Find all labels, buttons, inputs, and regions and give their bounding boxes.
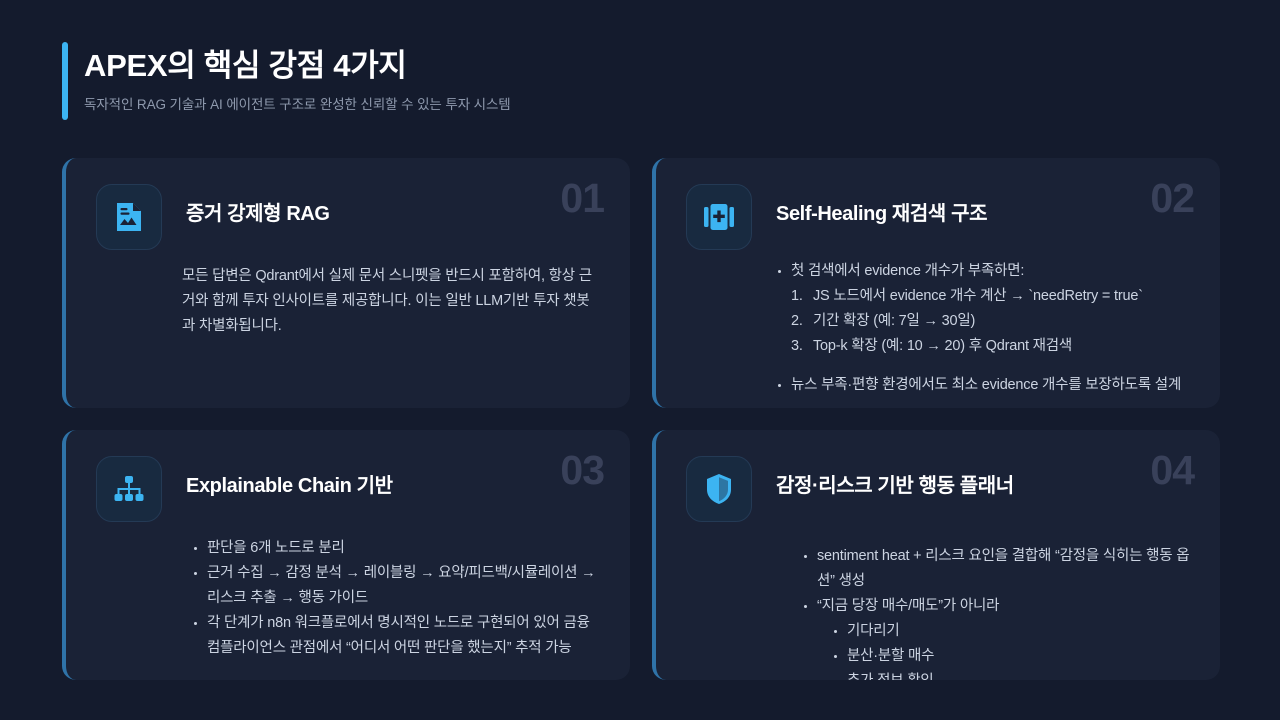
list-item: 근거 수집 → 감정 분석 → 레이블링 → 요약/피드백/시뮬레이션 → 리스… [192,561,602,611]
feature-card-grid: 01 증거 강제형 RAG 모든 답변은 Q [62,158,1220,680]
list-item: 각 단계가 n8n 워크플로에서 명시적인 노드로 구현되어 있어 금융 컴플라… [192,611,602,661]
sitemap-hierarchy-icon [113,475,145,503]
list-item: Top-k 확장 (예: 10 → 20) 후 Qdrant 재검색 [791,334,1192,359]
list-item: 분산·분할 매수 [832,644,1192,669]
header-text-group: APEX의 핵심 강점 4가지 독자적인 RAG 기술과 AI 에이전트 구조로… [68,42,511,120]
card-body: 모든 답변은 Qdrant에서 실제 문서 스니펫을 반드시 포함하여, 항상 … [96,264,602,339]
slide-header: APEX의 핵심 강점 4가지 독자적인 RAG 기술과 AI 에이전트 구조로… [62,42,511,120]
list-item: 추가 정보 확인 [832,669,1192,680]
list-spacer [776,359,1192,373]
card-number-badge: 03 [560,450,604,491]
card-bullet-list: sentiment heat + 리스크 요인을 결합해 “감정을 식히는 행동… [802,544,1192,619]
icon-tile [96,456,162,522]
shield-icon [705,473,733,505]
feature-card-04[interactable]: 04 감정·리스크 기반 행동 플래너 sentiment heat + 리스크… [652,430,1220,680]
document-chart-icon [114,201,144,233]
card-body: 판단을 6개 노드로 분리 근거 수집 → 감정 분석 → 레이블링 → 요약/… [96,536,602,661]
icon-tile [96,184,162,250]
list-item: 기간 확장 (예: 7일 → 30일) [791,309,1192,334]
card-header-row: Explainable Chain 기반 [96,456,602,522]
list-item: sentiment heat + 리스크 요인을 결합해 “감정을 식히는 행동… [802,544,1192,594]
card-step-list: JS 노드에서 evidence 개수 계산 → `needRetry = tr… [776,284,1192,359]
card-paragraph: 모든 답변은 Qdrant에서 실제 문서 스니펫을 반드시 포함하여, 항상 … [182,264,602,339]
card-sub-bullet-list: 기다리기 분산·분할 매수 추가 정보 확인 위와 같이 감정적 행동을 억제하… [802,619,1192,680]
card-body: 첫 검색에서 evidence 개수가 부족하면: JS 노드에서 eviden… [686,259,1192,398]
feature-card-03[interactable]: 03 [62,430,630,680]
list-item: 첫 검색에서 evidence 개수가 부족하면: [776,259,1192,284]
first-aid-book-icon [703,202,735,232]
slide-root: APEX의 핵심 강점 4가지 독자적인 RAG 기술과 AI 에이전트 구조로… [0,0,1280,720]
list-item: JS 노드에서 evidence 개수 계산 → `needRetry = tr… [791,284,1192,309]
card-bullet-list: 판단을 6개 노드로 분리 근거 수집 → 감정 분석 → 레이블링 → 요약/… [192,536,602,661]
list-item: 기다리기 [832,619,1192,644]
list-item: 뉴스 부족·편향 환경에서도 최소 evidence 개수를 보장하도록 설계 [776,373,1192,398]
card-number-badge: 01 [560,178,604,219]
card-title: Explainable Chain 기반 [162,456,393,499]
card-number-badge: 02 [1150,178,1194,219]
card-bullet-list-tail: 뉴스 부족·편향 환경에서도 최소 evidence 개수를 보장하도록 설계 [776,373,1192,398]
feature-card-01[interactable]: 01 증거 강제형 RAG 모든 답변은 Q [62,158,630,408]
card-title: 증거 강제형 RAG [162,184,330,227]
card-header-row: 증거 강제형 RAG [96,184,602,250]
feature-card-02[interactable]: 02 Self-Healing 재검색 구조 첫 검 [652,158,1220,408]
icon-tile [686,456,752,522]
list-item: “지금 당장 매수/매도”가 아니라 [802,594,1192,619]
card-title: 감정·리스크 기반 행동 플래너 [752,456,1014,499]
list-item: 판단을 6개 노드로 분리 [192,536,602,561]
page-subtitle: 독자적인 RAG 기술과 AI 에이전트 구조로 완성한 신뢰할 수 있는 투자… [84,96,511,114]
card-number-badge: 04 [1150,450,1194,491]
card-header-row: Self-Healing 재검색 구조 [686,184,1192,250]
card-bullet-list: 첫 검색에서 evidence 개수가 부족하면: [776,259,1192,284]
icon-tile [686,184,752,250]
card-title: Self-Healing 재검색 구조 [752,184,987,227]
card-header-row: 감정·리스크 기반 행동 플래너 [686,456,1192,522]
card-body: sentiment heat + 리스크 요인을 결합해 “감정을 식히는 행동… [686,544,1192,680]
page-title: APEX의 핵심 강점 4가지 [84,48,511,84]
